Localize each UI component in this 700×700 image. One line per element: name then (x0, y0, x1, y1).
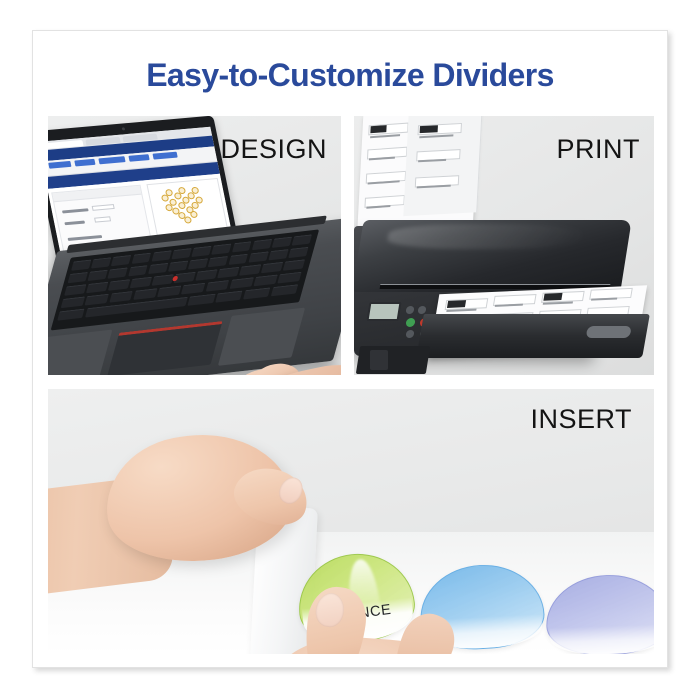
form-field-label (62, 208, 89, 213)
tray-handle[interactable] (586, 326, 632, 338)
printer-lcd-display (366, 302, 401, 321)
printer-illustration (354, 164, 654, 375)
printer-button[interactable] (417, 306, 426, 314)
form-input[interactable] (94, 216, 111, 222)
form-input[interactable] (92, 204, 115, 211)
form-panel-header (52, 186, 141, 202)
lid-highlight (386, 224, 583, 248)
printer-cartridge-door[interactable] (370, 350, 388, 370)
touchpad[interactable] (107, 321, 222, 375)
printer-front-panel (356, 346, 430, 374)
product-feature-image: Easy-to-Customize Dividers (0, 0, 700, 700)
form-field-label (64, 221, 85, 226)
white-card: Easy-to-Customize Dividers (32, 30, 668, 668)
panel-print: PRINT (354, 116, 654, 375)
page-title: Easy-to-Customize Dividers (33, 57, 667, 94)
printer-start-button[interactable] (405, 318, 415, 327)
knuckles-lower (268, 632, 487, 654)
panel-design: DESIGN (48, 116, 341, 375)
palm-rest-left (48, 329, 112, 375)
printer-output-tray (416, 314, 650, 358)
pattern-preview (156, 185, 219, 229)
form-field-label (68, 235, 103, 241)
tab-white-area (550, 624, 654, 654)
webcam-icon (121, 127, 125, 130)
printer-button[interactable] (405, 306, 414, 314)
hand-lower (272, 587, 540, 654)
panel-label-design: DESIGN (220, 134, 327, 165)
panel-insert: FINANCE INSERT (48, 389, 654, 654)
printer-button[interactable] (405, 330, 414, 338)
hand-upper (58, 425, 338, 595)
panel-label-print: PRINT (557, 134, 641, 165)
printer-scanner-lid (354, 220, 632, 292)
hand-on-keyboard (214, 356, 341, 375)
panel-label-insert: INSERT (530, 404, 632, 435)
